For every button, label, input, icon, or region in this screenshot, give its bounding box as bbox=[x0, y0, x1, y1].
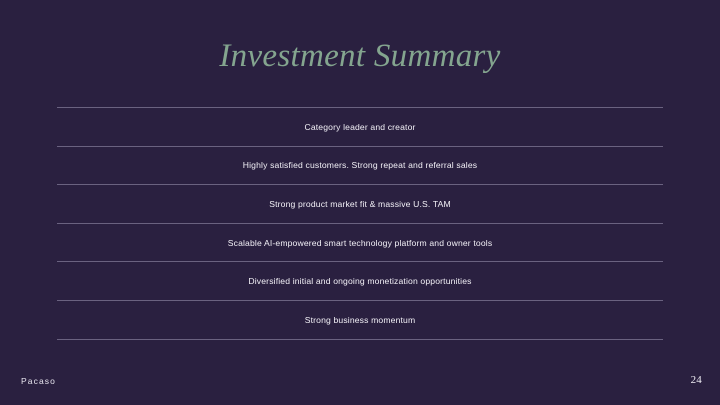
summary-row-label: Highly satisfied customers. Strong repea… bbox=[243, 159, 477, 171]
table-row: Scalable AI-empowered smart technology p… bbox=[57, 223, 663, 262]
summary-row-label: Diversified initial and ongoing monetiza… bbox=[248, 275, 471, 287]
page-number: 24 bbox=[691, 374, 702, 387]
page-title: Investment Summary bbox=[0, 36, 720, 76]
summary-table: Category leader and creator Highly satis… bbox=[57, 107, 663, 340]
slide-canvas: Investment Summary Category leader and c… bbox=[0, 0, 720, 405]
table-row: Strong business momentum bbox=[57, 300, 663, 340]
table-row: Diversified initial and ongoing monetiza… bbox=[57, 261, 663, 300]
summary-row-label: Strong product market fit & massive U.S.… bbox=[269, 198, 451, 210]
summary-row-label: Scalable AI-empowered smart technology p… bbox=[228, 237, 493, 249]
brand-logo: Pacaso bbox=[21, 375, 56, 387]
summary-row-label: Category leader and creator bbox=[304, 121, 415, 133]
table-row: Strong product market fit & massive U.S.… bbox=[57, 184, 663, 223]
table-row: Category leader and creator bbox=[57, 107, 663, 146]
summary-row-label: Strong business momentum bbox=[305, 314, 416, 326]
table-row: Highly satisfied customers. Strong repea… bbox=[57, 146, 663, 185]
